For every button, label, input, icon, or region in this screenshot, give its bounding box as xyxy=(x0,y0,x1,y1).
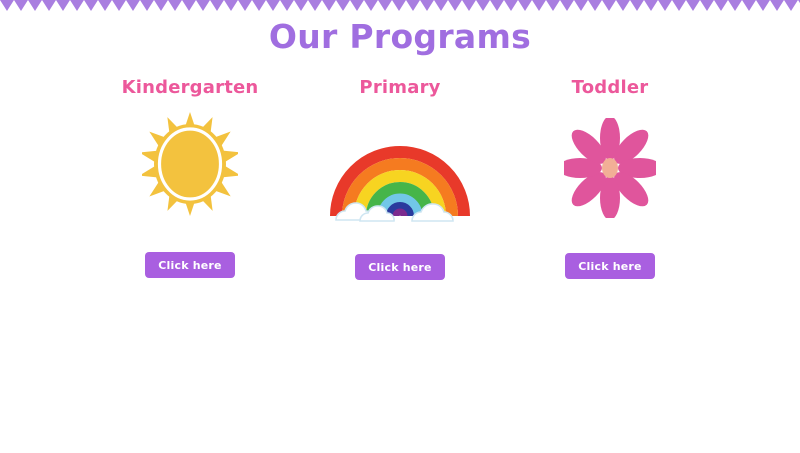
button-wrap-primary: Click here xyxy=(355,254,444,280)
program-art-kindergarten xyxy=(115,110,265,218)
button-wrap-toddler: Click here xyxy=(565,253,654,279)
rainbow-icon xyxy=(330,128,470,224)
program-card-primary: Primary xyxy=(295,76,505,280)
program-card-toddler: Toddler xyxy=(505,76,715,279)
program-card-kindergarten: Kindergarten xyxy=(85,76,295,278)
program-title-kindergarten: Kindergarten xyxy=(122,76,259,100)
program-title-toddler: Toddler xyxy=(572,76,649,100)
page-title: Our Programs xyxy=(0,17,800,56)
flower-icon xyxy=(564,118,656,218)
zigzag-border-icon xyxy=(0,0,800,12)
sun-icon xyxy=(142,112,238,216)
button-wrap-kindergarten: Click here xyxy=(145,252,234,278)
programs-row: Kindergarten xyxy=(0,76,800,280)
click-here-button-toddler[interactable]: Click here xyxy=(565,253,654,279)
program-art-toddler xyxy=(535,114,685,222)
click-here-button-kindergarten[interactable]: Click here xyxy=(145,252,234,278)
zigzag-top-border xyxy=(0,0,800,12)
program-art-primary xyxy=(325,122,475,230)
click-here-button-primary[interactable]: Click here xyxy=(355,254,444,280)
program-title-primary: Primary xyxy=(359,76,440,100)
